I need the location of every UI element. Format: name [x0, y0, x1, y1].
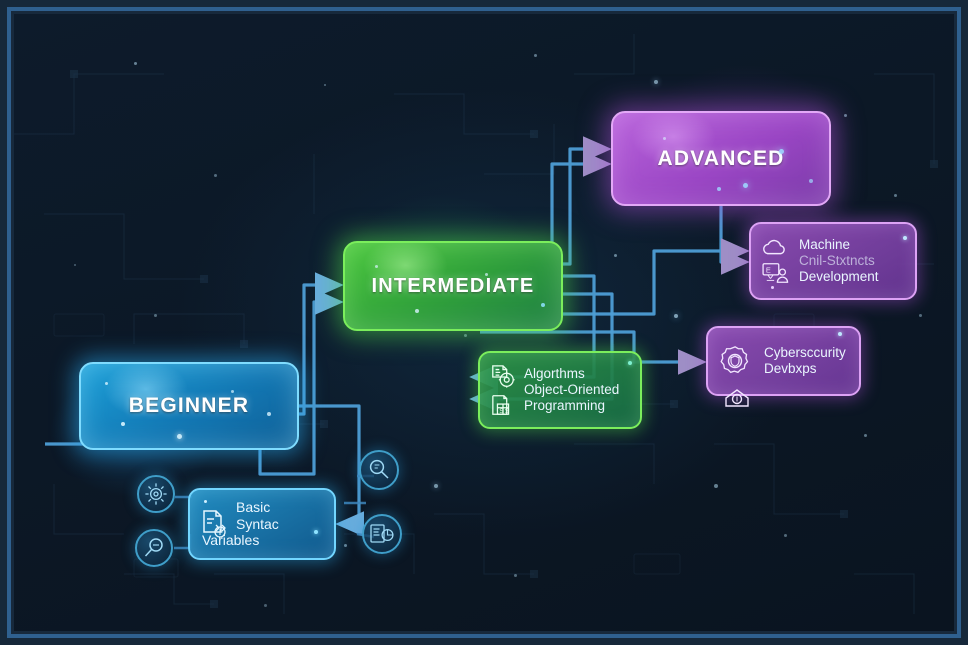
frame-outer-border [0, 0, 968, 645]
diagram-canvas: BEGINNER INTERMEDIATE ADVANCED [0, 0, 968, 645]
